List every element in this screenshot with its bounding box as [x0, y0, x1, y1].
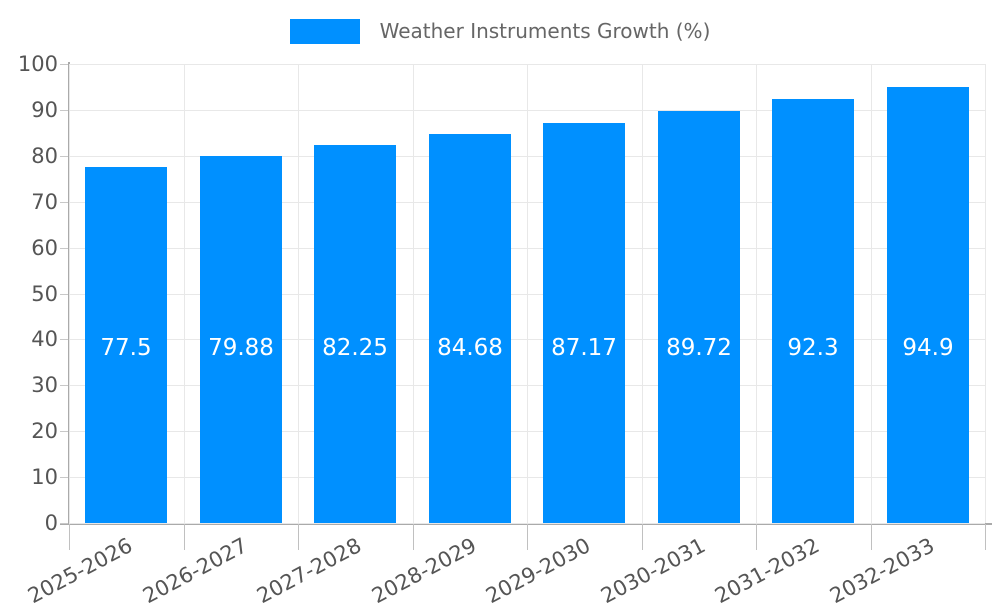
x-axis-tick-mark [642, 524, 643, 550]
bar-value-label: 77.5 [85, 337, 167, 360]
x-axis-tick-label: 2028-2029 [364, 535, 480, 610]
y-axis-tick-mark [60, 385, 68, 386]
bar-value-label: 79.88 [200, 337, 282, 360]
bar[interactable]: 84.68 [429, 134, 511, 523]
y-axis-tick-mark [60, 110, 68, 111]
y-axis-tick-mark [60, 523, 68, 524]
x-axis-tick-mark [756, 524, 757, 550]
y-axis-tick-mark [60, 248, 68, 249]
x-axis-tick-mark [413, 524, 414, 550]
x-axis-tick-mark [69, 524, 70, 550]
x-axis-tick-mark [527, 524, 528, 550]
vertical-gridline [184, 64, 185, 523]
y-axis-tick-label: 80 [31, 146, 58, 167]
bar-value-label: 94.9 [887, 337, 969, 360]
bar[interactable]: 87.17 [543, 123, 625, 523]
legend-entry-weather-instruments-growth[interactable]: Weather Instruments Growth (%) [290, 19, 711, 44]
y-axis-tick-mark [60, 156, 68, 157]
y-axis-tick-mark [60, 431, 68, 432]
bar-value-label: 87.17 [543, 337, 625, 360]
y-axis-tick-label: 30 [31, 375, 58, 396]
y-axis-tick-label: 90 [31, 100, 58, 121]
y-axis-tick-label: 10 [31, 467, 58, 488]
bar[interactable]: 82.25 [314, 145, 396, 523]
vertical-gridline [527, 64, 528, 523]
y-axis-tick-label: 50 [31, 284, 58, 305]
x-axis-tick-mark [985, 524, 986, 550]
x-axis-tick-label: 2026-2027 [135, 535, 251, 610]
x-axis-tick-label: 2032-2033 [822, 535, 938, 610]
bar-value-label: 84.68 [429, 337, 511, 360]
bar-value-label: 82.25 [314, 337, 396, 360]
vertical-gridline [985, 64, 986, 523]
y-axis-tick-label: 100 [18, 54, 58, 75]
plot-area: 77.579.8882.2584.6887.1789.7292.394.9 [69, 64, 985, 523]
y-axis-tick-label: 70 [31, 192, 58, 213]
bar[interactable]: 77.5 [85, 167, 167, 523]
vertical-gridline [413, 64, 414, 523]
legend-color-swatch-icon [290, 19, 360, 44]
x-axis-tick-label: 2031-2032 [707, 535, 823, 610]
y-axis-tick-labels: 1009080706050403020100 [0, 0, 58, 600]
y-axis-tick-mark [60, 64, 68, 65]
y-axis-tick-mark [60, 477, 68, 478]
bar-chart: Weather Instruments Growth (%) 100908070… [0, 0, 1000, 600]
y-axis-tick-label: 20 [31, 421, 58, 442]
chart-legend: Weather Instruments Growth (%) [0, 14, 1000, 48]
bar[interactable]: 92.3 [772, 99, 854, 523]
bar[interactable]: 89.72 [658, 111, 740, 523]
bar[interactable]: 94.9 [887, 87, 969, 523]
x-axis-tick-mark [184, 524, 185, 550]
vertical-gridline [298, 64, 299, 523]
x-axis-tick-label: 2027-2028 [249, 535, 365, 610]
y-axis-tick-mark [60, 339, 68, 340]
x-axis-tick-mark [871, 524, 872, 550]
y-axis-tick-label: 0 [45, 513, 58, 534]
vertical-gridline [756, 64, 757, 523]
bar[interactable]: 79.88 [200, 156, 282, 523]
bar-value-label: 92.3 [772, 337, 854, 360]
bar-value-label: 89.72 [658, 337, 740, 360]
y-axis-tick-label: 60 [31, 238, 58, 259]
vertical-gridline [642, 64, 643, 523]
y-axis-tick-label: 40 [31, 329, 58, 350]
y-axis-tick-mark [60, 202, 68, 203]
y-axis-tick-mark [60, 294, 68, 295]
legend-entry-label: Weather Instruments Growth (%) [380, 21, 711, 41]
x-axis-tick-label: 2030-2031 [593, 535, 709, 610]
vertical-gridline [69, 64, 70, 523]
x-axis-tick-label: 2029-2030 [478, 535, 594, 610]
x-axis-tick-mark [298, 524, 299, 550]
vertical-gridline [871, 64, 872, 523]
